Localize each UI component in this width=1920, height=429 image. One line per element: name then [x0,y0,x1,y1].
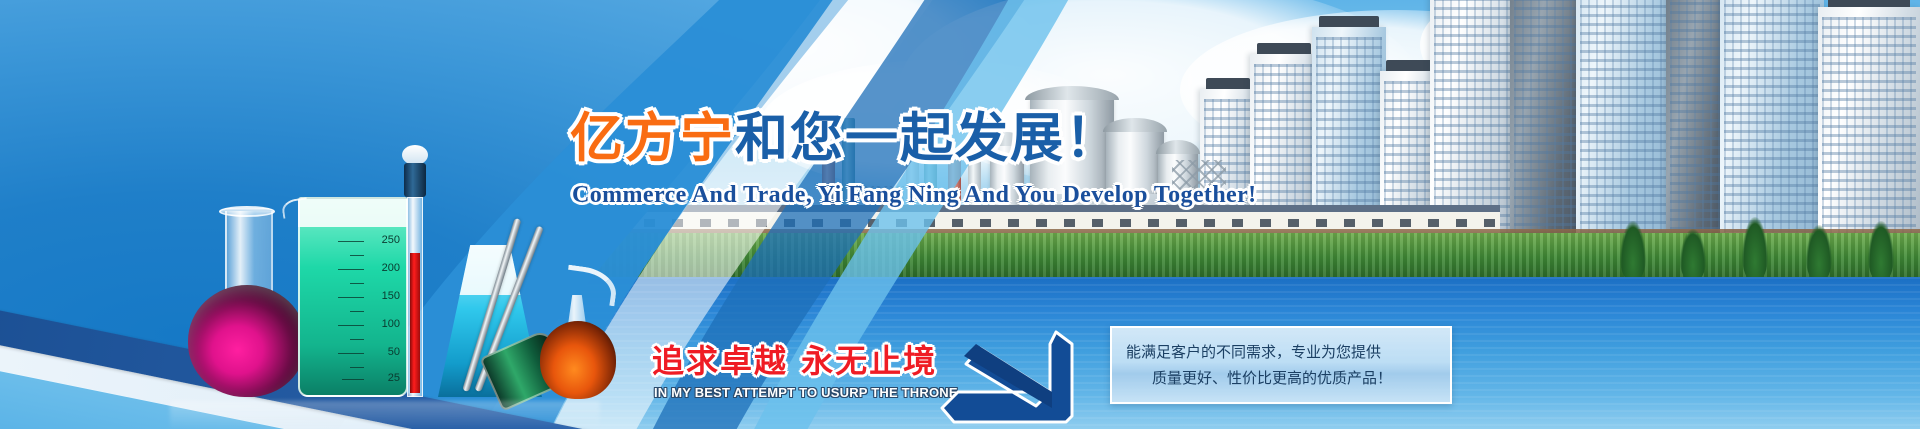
burette-red-liquid [402,149,428,397]
reed-vegetation [560,233,1920,279]
corner-arrow-icon [940,330,1100,425]
info-line-1: 能满足客户的不同需求，专业为您提供 [1112,339,1450,365]
tree [1620,221,1646,281]
beaker-tick-minor [350,255,364,256]
promo-banner: 250 200 150 100 50 25 [0,0,1920,429]
info-text-box: 能满足客户的不同需求，专业为您提供 质量更好、性价比更高的优质产品！ [1110,326,1452,404]
burette-cap [404,163,426,197]
headline-rest: 和您一起发展！ [735,108,1120,169]
round-bottom-flask-magenta [188,211,306,397]
retort-bulb-orange-liquid [540,321,616,399]
beaker-tick [342,379,364,380]
beaker-graduation-label: 100 [382,319,400,330]
beaker-spout [281,197,309,218]
beaker-tick [338,297,364,298]
tree [1868,221,1894,281]
beaker-graduation-label: 250 [382,235,400,246]
laboratory-glassware-group: 250 200 150 100 50 25 [170,111,590,411]
beaker-tick [338,269,364,270]
beaker-tick [338,353,364,354]
beaker-tick [338,325,364,326]
info-line-2: 质量更好、性价比更高的优质产品！ [1112,365,1450,391]
graduated-beaker-green: 250 200 150 100 50 25 [298,197,408,397]
burette-bulb [402,145,428,165]
beaker-tick [338,241,364,242]
tree [1742,217,1768,281]
beaker-graduation-label: 150 [382,291,400,302]
tree [1680,229,1706,281]
subheadline-english: Commerce And Trade, Yi Fang Ning And You… [572,182,1257,209]
retort-flask-orange [536,275,620,399]
beaker-tick-minor [350,311,364,312]
slogan-english: IN MY BEST ATTEMPT TO USURP THE THRONE [654,385,958,400]
slogan-chinese: 追求卓越 永无止境 [652,336,937,382]
beaker-graduation-label: 200 [382,263,400,274]
beaker-tick-minor [350,283,364,284]
glassware-reflection [170,401,600,429]
headline-brand: 亿方宁 [570,108,735,169]
beaker-graduation-label: 50 [388,347,400,358]
beaker-graduation-label: 25 [388,373,400,384]
beaker-tick-minor [350,367,364,368]
tree [1806,225,1832,281]
headline: 亿方宁和您一起发展！ [570,96,1120,172]
beaker-tick-minor [350,339,364,340]
burette-red-column [410,253,420,393]
flask-bulb-magenta-liquid [188,285,306,397]
